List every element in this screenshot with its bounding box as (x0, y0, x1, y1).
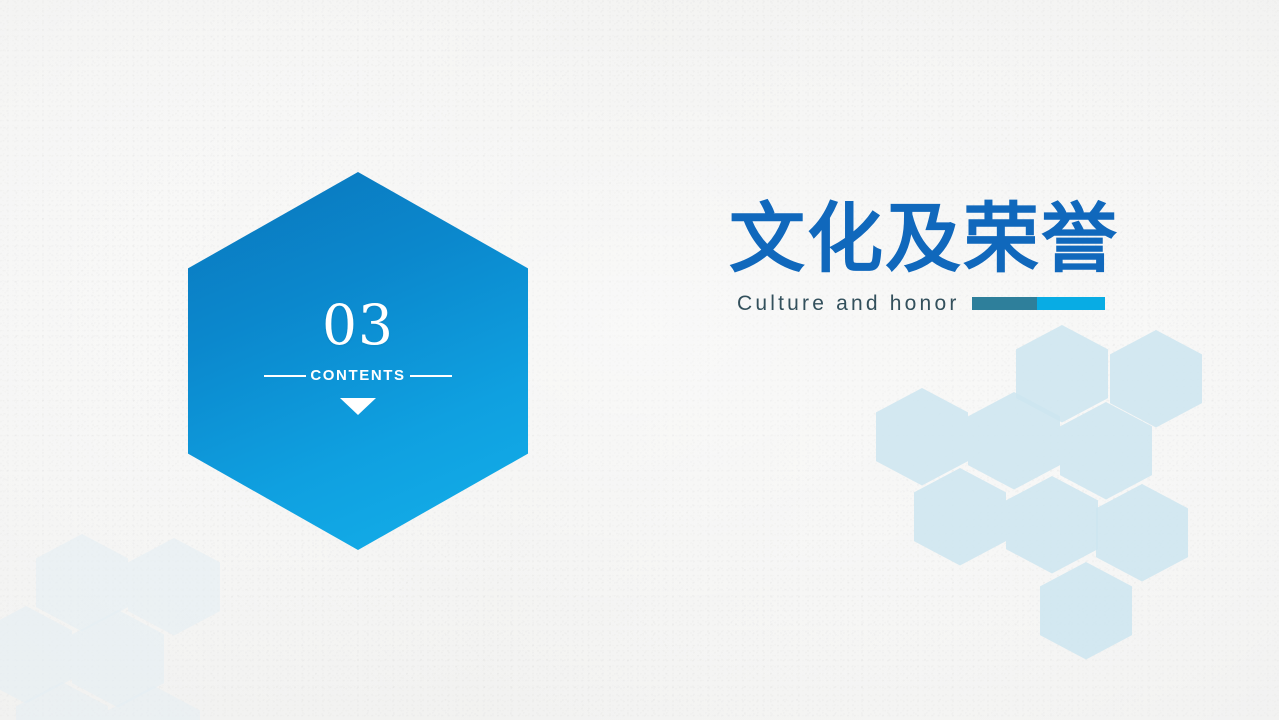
slide-title: 文化及荣誉 (729, 200, 1119, 280)
accent-bar (972, 297, 1105, 310)
hexagon-decor (1006, 476, 1098, 574)
triangle-down-icon (340, 398, 376, 415)
hexagon-decor (1096, 484, 1188, 582)
rule-left (264, 375, 306, 377)
hexagon-decor (128, 538, 220, 636)
title-block: 文化及荣誉 Culture and honor (729, 200, 1119, 316)
hexagon-decor (108, 686, 200, 720)
hexagon-decor (876, 388, 968, 486)
section-hexagon[interactable]: 03 CONTENTS (188, 172, 528, 550)
accent-bar-segment-left (972, 297, 1037, 310)
section-number: 03 (322, 298, 394, 353)
slide-subtitle: Culture and honor (737, 292, 960, 316)
section-label: CONTENTS (310, 367, 405, 384)
subtitle-row: Culture and honor (737, 292, 1119, 316)
hexagon-decor (968, 392, 1060, 490)
accent-bar-segment-right (1037, 297, 1105, 310)
hexagon-decor (0, 606, 72, 704)
hexagon-decor (1110, 330, 1202, 428)
hexagon-decor (1060, 402, 1152, 500)
hexagon-decor (1040, 562, 1132, 660)
hexagon-decor (16, 682, 108, 720)
hexagon-decor (72, 610, 164, 708)
hexagon-content: 03 CONTENTS (188, 172, 528, 550)
section-label-row: CONTENTS (264, 367, 451, 384)
hexagon-decor (36, 534, 128, 632)
hexagon-decor (914, 468, 1006, 566)
presentation-slide: 03 CONTENTS 文化及荣誉 Culture and honor (0, 0, 1279, 720)
rule-right (410, 375, 452, 377)
hexagon-decor (1016, 325, 1108, 423)
